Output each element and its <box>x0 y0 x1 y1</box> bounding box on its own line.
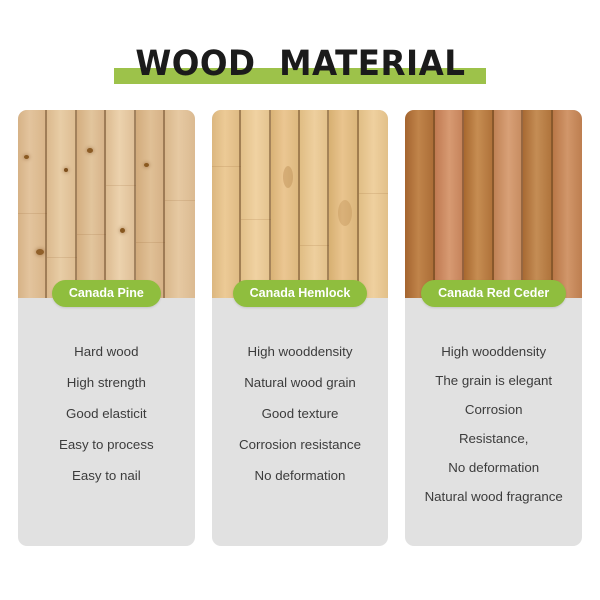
list-item: Easy to process <box>26 437 187 452</box>
plank <box>18 110 47 298</box>
wood-knot-icon <box>120 228 125 233</box>
page-title: WOOD MATERIAL <box>135 42 465 86</box>
list-item: No deformation <box>220 468 381 483</box>
list-item: Natural wood fragrance <box>413 489 574 504</box>
plank <box>329 110 358 298</box>
plank <box>136 110 165 298</box>
list-item: Corrosion resistance <box>220 437 381 452</box>
plank-group <box>18 110 195 298</box>
feature-list: Hard wood High strength Good elasticit E… <box>18 298 195 483</box>
list-item: Easy to nail <box>26 468 187 483</box>
badge-row: Canada Red Ceder <box>405 280 582 307</box>
status-badge[interactable]: Canada Red Ceder <box>421 280 566 307</box>
page-title-area: WOOD MATERIAL <box>0 42 600 90</box>
wood-knot-icon <box>36 249 44 255</box>
list-item: High wooddensity <box>413 344 574 359</box>
list-item: Natural wood grain <box>220 375 381 390</box>
badge-row: Canada Pine <box>18 280 195 307</box>
plank <box>523 110 552 298</box>
status-badge[interactable]: Canada Hemlock <box>233 280 368 307</box>
plank-group <box>212 110 389 298</box>
plank <box>405 110 434 298</box>
plank <box>494 110 523 298</box>
red-cedar-wood-planks-photo <box>405 110 582 298</box>
list-item: High wooddensity <box>220 344 381 359</box>
plank <box>464 110 493 298</box>
wood-grain-line <box>106 185 135 186</box>
list-item: Hard wood <box>26 344 187 359</box>
wood-grain-line <box>47 257 76 258</box>
wood-grain-line <box>241 219 270 220</box>
wood-grain-line <box>300 245 329 246</box>
plank <box>77 110 106 298</box>
pine-wood-planks-photo <box>18 110 195 298</box>
wood-material-infographic: WOOD MATERIAL <box>0 0 600 600</box>
plank <box>47 110 76 298</box>
material-cards-row: Canada Pine Hard wood High strength Good… <box>18 110 582 546</box>
list-item: The grain is elegant <box>413 373 574 388</box>
plank-group <box>405 110 582 298</box>
list-item: No deformation <box>413 460 574 475</box>
list-item: Good elasticit <box>26 406 187 421</box>
hemlock-wood-planks-photo <box>212 110 389 298</box>
wood-knot-icon <box>87 148 93 153</box>
wood-grain-line <box>77 234 106 235</box>
wood-knot-icon <box>64 168 68 172</box>
plank <box>359 110 388 298</box>
feature-list: High wooddensity Natural wood grain Good… <box>212 298 389 483</box>
plank <box>241 110 270 298</box>
plank <box>106 110 135 298</box>
plank <box>435 110 464 298</box>
badge-row: Canada Hemlock <box>212 280 389 307</box>
list-item: Good texture <box>220 406 381 421</box>
wood-knot-icon <box>144 163 149 167</box>
list-item: High strength <box>26 375 187 390</box>
title-inner: WOOD MATERIAL <box>123 42 478 86</box>
list-item: Corrosion <box>413 402 574 417</box>
list-item: Resistance, <box>413 431 574 446</box>
wood-grain-line <box>136 242 165 243</box>
wood-grain-line <box>165 200 194 201</box>
status-badge[interactable]: Canada Pine <box>52 280 161 307</box>
wood-grain-line <box>212 166 241 167</box>
material-card-canada-red-ceder[interactable]: Canada Red Ceder High wooddensity The gr… <box>405 110 582 546</box>
wood-grain-line <box>359 193 388 194</box>
wood-knot-icon <box>24 155 29 159</box>
plank <box>165 110 194 298</box>
material-card-canada-pine[interactable]: Canada Pine Hard wood High strength Good… <box>18 110 195 546</box>
wood-knot-icon <box>338 200 352 226</box>
feature-list: High wooddensity The grain is elegant Co… <box>405 298 582 504</box>
wood-grain-line <box>18 213 47 214</box>
plank <box>212 110 241 298</box>
wood-knot-icon <box>283 166 293 188</box>
material-card-canada-hemlock[interactable]: Canada Hemlock High wooddensity Natural … <box>212 110 389 546</box>
plank <box>300 110 329 298</box>
plank <box>271 110 300 298</box>
plank <box>553 110 582 298</box>
